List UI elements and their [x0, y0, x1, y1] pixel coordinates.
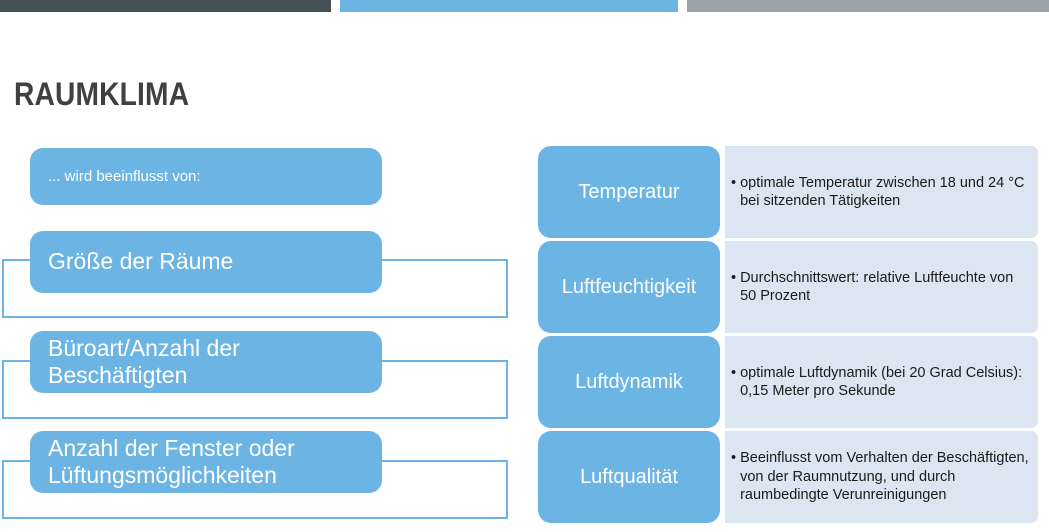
- top-bar-gray: [687, 0, 1049, 12]
- bullet-line: • Beeinflusst vom Verhalten der Beschäft…: [731, 449, 1030, 504]
- left-chip-bueroart-anzahl[interactable]: Büroart/Anzahl der Beschäftigten: [30, 331, 382, 393]
- right-row-label-text: Temperatur: [578, 181, 679, 204]
- bullet-text: Durchschnittswert: relative Luftfeuchte …: [740, 269, 1030, 306]
- right-row-temperatur: Temperatur • optimale Temperatur zwische…: [530, 146, 1049, 238]
- bullet-line: • Durchschnittswert: relative Luftfeucht…: [731, 269, 1030, 306]
- bullet-text: optimale Temperatur zwischen 18 und 24 °…: [740, 174, 1030, 211]
- right-row-label-text: Luftfeuchtigkeit: [562, 276, 697, 299]
- right-row-label[interactable]: Temperatur: [538, 146, 720, 238]
- left-chip-groesse-der-raeume[interactable]: Größe der Räume: [30, 231, 382, 293]
- bullet-dot-icon: •: [731, 174, 736, 192]
- bullet-text: Beeinflusst vom Verhalten der Beschäftig…: [740, 449, 1030, 504]
- right-row-panel[interactable]: • optimale Temperatur zwischen 18 und 24…: [725, 146, 1038, 238]
- bullet-dot-icon: •: [731, 364, 736, 382]
- right-row-label-text: Luftqualität: [580, 466, 678, 489]
- left-chip-label: Größe der Räume: [48, 248, 233, 275]
- right-row-luftqualitaet: Luftqualität • Beeinflusst vom Verhalten…: [530, 431, 1049, 523]
- bullet-line: • optimale Luftdynamik (bei 20 Grad Cels…: [731, 364, 1030, 401]
- right-row-luftdynamik: Luftdynamik • optimale Luftdynamik (bei …: [530, 336, 1049, 428]
- bullet-dot-icon: •: [731, 449, 736, 467]
- right-column: Temperatur • optimale Temperatur zwische…: [530, 140, 1049, 532]
- right-row-panel[interactable]: • Beeinflusst vom Verhalten der Beschäft…: [725, 431, 1038, 523]
- right-row-luftfeuchtigkeit: Luftfeuchtigkeit • Durchschnittswert: re…: [530, 241, 1049, 333]
- right-row-panel[interactable]: • optimale Luftdynamik (bei 20 Grad Cels…: [725, 336, 1038, 428]
- left-chip-label: Anzahl der Fenster oder Lüftungsmöglichk…: [48, 435, 364, 489]
- left-chip-label: ... wird beeinflusst von:: [48, 168, 201, 186]
- right-row-label[interactable]: Luftfeuchtigkeit: [538, 241, 720, 333]
- left-chip-anzahl-fenster[interactable]: Anzahl der Fenster oder Lüftungsmöglichk…: [30, 431, 382, 493]
- bullet-dot-icon: •: [731, 269, 736, 287]
- left-chip-intro[interactable]: ... wird beeinflusst von:: [30, 148, 382, 205]
- right-row-label[interactable]: Luftdynamik: [538, 336, 720, 428]
- right-row-label[interactable]: Luftqualität: [538, 431, 720, 523]
- left-column: ... wird beeinflusst von: Größe der Räum…: [0, 0, 520, 526]
- right-row-label-text: Luftdynamik: [575, 371, 683, 394]
- bullet-line: • optimale Temperatur zwischen 18 und 24…: [731, 174, 1030, 211]
- right-row-panel[interactable]: • Durchschnittswert: relative Luftfeucht…: [725, 241, 1038, 333]
- bullet-text: optimale Luftdynamik (bei 20 Grad Celsiu…: [740, 364, 1030, 401]
- left-chip-label: Büroart/Anzahl der Beschäftigten: [48, 335, 364, 389]
